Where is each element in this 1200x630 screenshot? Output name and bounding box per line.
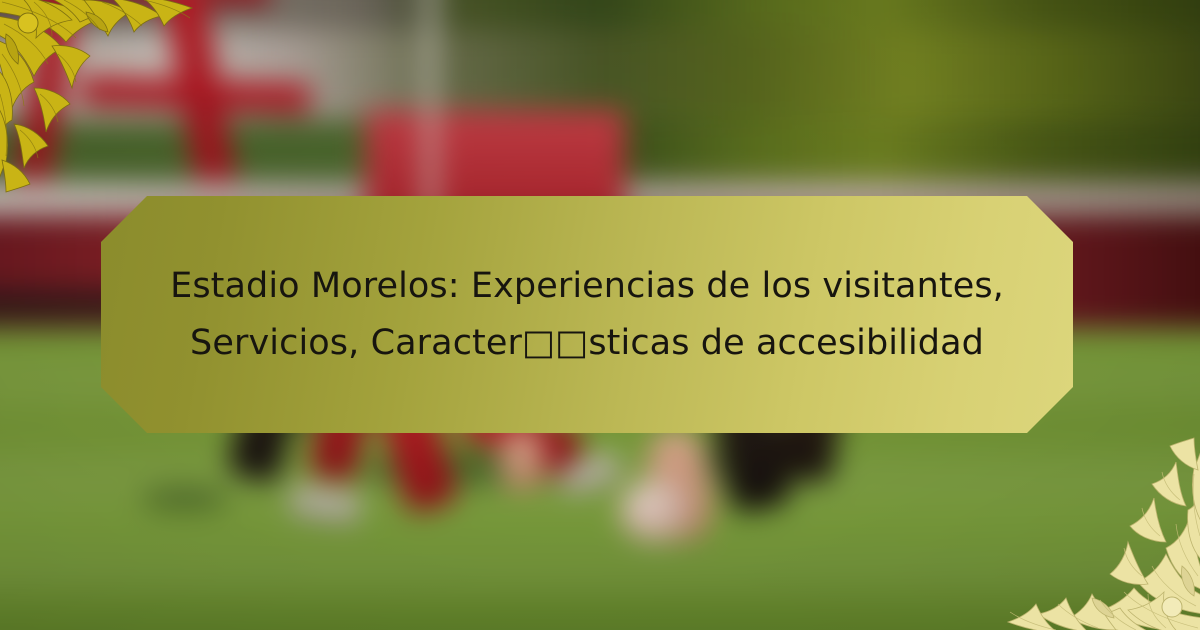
title-banner: Estadio Morelos: Experiencias de los vis… [101,196,1073,433]
stadium-flagpole [426,0,435,220]
social-banner-card: Estadio Morelos: Experiencias de los vis… [0,0,1200,630]
pitch-stripe [0,550,1200,596]
grass-patch [140,488,230,510]
page-title: Estadio Morelos: Experiencias de los vis… [114,258,1060,371]
football-ball [620,480,692,542]
player-skin [500,430,544,490]
